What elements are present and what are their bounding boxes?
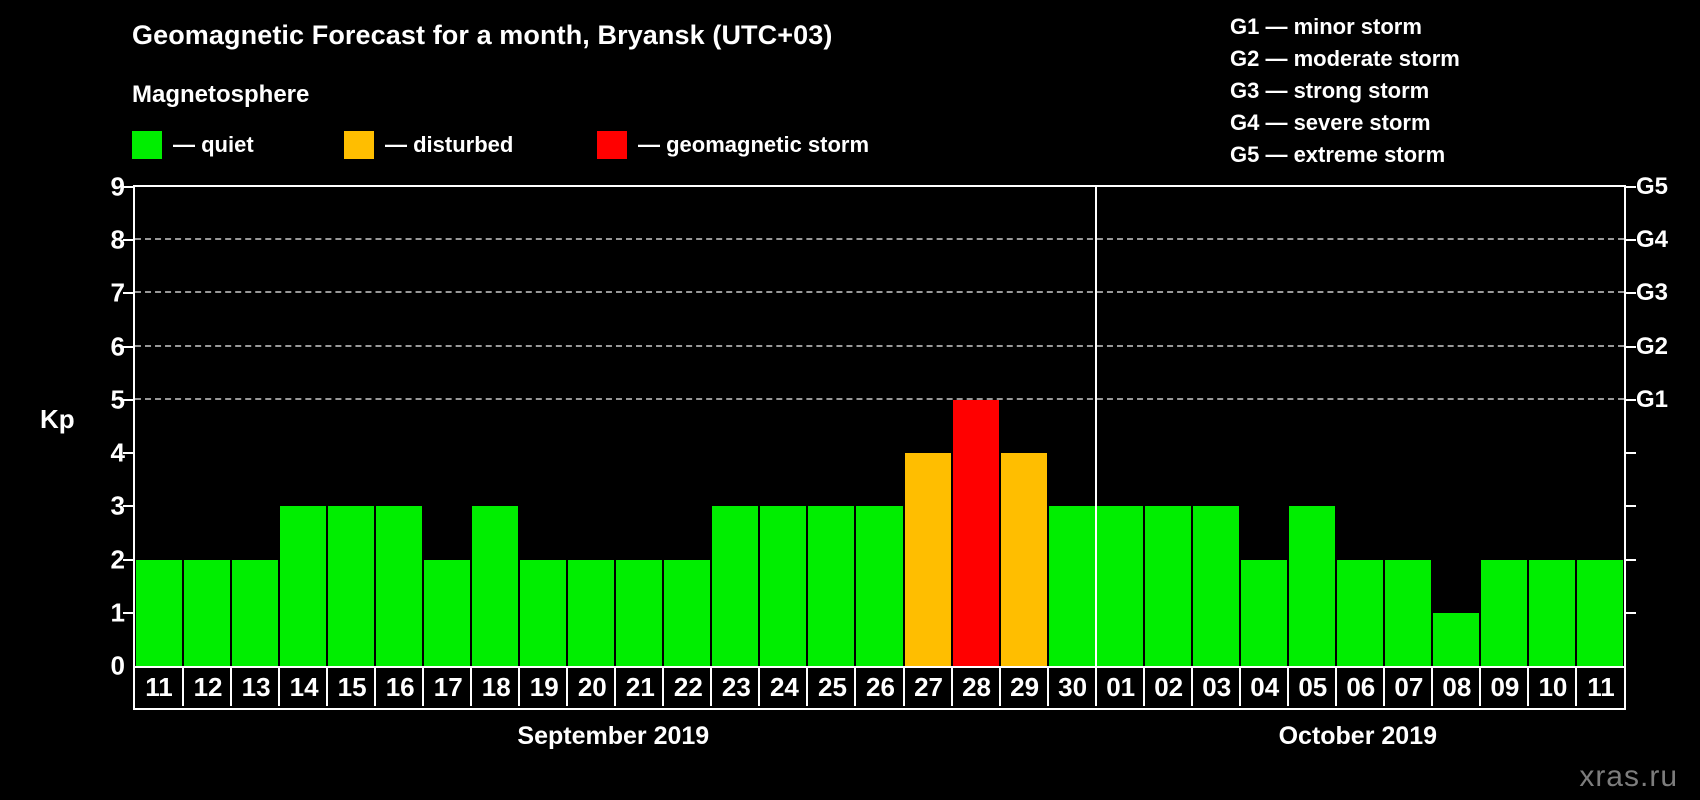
bar-day-04-kp-2[interactable]: [1241, 560, 1287, 666]
g-scale-row-1: G1 — minor storm: [1230, 11, 1460, 43]
bar-day-08-kp-1[interactable]: [1433, 613, 1479, 666]
bar-slot-day-14: [279, 187, 327, 666]
x-axis-day-label-23[interactable]: 23: [710, 668, 760, 706]
x-axis-day-labels: 1112131415161718192021222324252627282930…: [133, 668, 1626, 710]
bar-day-18-kp-3[interactable]: [472, 506, 518, 666]
magnetosphere-label: Magnetosphere: [132, 81, 309, 109]
legend-item-label: — quiet: [173, 132, 254, 158]
g-tick-mark-kp-6: [1625, 346, 1636, 348]
bar-slot-day-11: [135, 187, 183, 666]
x-axis-day-label-30[interactable]: 30: [1047, 668, 1097, 706]
bar-slot-day-13: [231, 187, 279, 666]
bar-day-10-kp-2[interactable]: [1529, 560, 1575, 666]
x-axis-day-label-07[interactable]: 07: [1383, 668, 1433, 706]
bar-slot-day-15: [327, 187, 375, 666]
legend-item-label: — disturbed: [385, 132, 513, 158]
g-axis-tick-marks: [1624, 185, 1636, 668]
bar-day-29-kp-4[interactable]: [1001, 453, 1047, 666]
bar-day-03-kp-3[interactable]: [1193, 506, 1239, 666]
x-axis-day-label-03[interactable]: 03: [1191, 668, 1241, 706]
legend-item-0: — quiet: [132, 130, 254, 160]
x-axis-day-label-09[interactable]: 09: [1479, 668, 1529, 706]
y-axis-tick-labels: 9876543210: [55, 185, 125, 668]
bar-slot-day-09: [1480, 187, 1528, 666]
g-scale-row-2: G2 — moderate storm: [1230, 43, 1460, 75]
g-tick-mark-kp-3: [1625, 505, 1636, 507]
chart-header: Geomagnetic Forecast for a month, Bryans…: [0, 0, 1700, 170]
bar-slot-day-16: [375, 187, 423, 666]
bar-slot-day-10: [1528, 187, 1576, 666]
x-axis-day-label-04[interactable]: 04: [1239, 668, 1289, 706]
bar-slot-day-30: [1048, 187, 1096, 666]
bar-slot-day-21: [615, 187, 663, 666]
bar-day-17-kp-2[interactable]: [424, 560, 470, 666]
x-axis-day-label-18[interactable]: 18: [470, 668, 520, 706]
bar-day-11-kp-2[interactable]: [1577, 560, 1623, 666]
bar-slot-day-01: [1096, 187, 1144, 666]
bar-day-28-kp-5[interactable]: [953, 400, 999, 666]
x-axis-day-label-27[interactable]: 27: [903, 668, 953, 706]
bar-slot-day-17: [423, 187, 471, 666]
month-caption-1: September 2019: [133, 722, 1094, 751]
bar-day-19-kp-2[interactable]: [520, 560, 566, 666]
y-tick-label-9: 9: [65, 172, 125, 203]
bar-slot-day-11: [1576, 187, 1624, 666]
bar-slot-day-22: [663, 187, 711, 666]
y-tick-label-2: 2: [65, 544, 125, 575]
red-square-icon: [597, 131, 627, 159]
g-tick-mark-kp-5: [1625, 399, 1636, 401]
green-square-icon: [132, 131, 162, 159]
x-axis-day-label-24[interactable]: 24: [758, 668, 808, 706]
y-tick-label-8: 8: [65, 225, 125, 256]
bar-slot-day-04: [1240, 187, 1288, 666]
g-scale-row-5: G5 — extreme storm: [1230, 139, 1460, 171]
bar-day-24-kp-3[interactable]: [760, 506, 806, 666]
bar-day-06-kp-2[interactable]: [1337, 560, 1383, 666]
bar-day-26-kp-3[interactable]: [856, 506, 902, 666]
g-tick-label-G1: G1: [1636, 386, 1696, 414]
x-axis-day-label-25[interactable]: 25: [806, 668, 856, 706]
bar-day-01-kp-3[interactable]: [1097, 506, 1143, 666]
g-scale-row-3: G3 — strong storm: [1230, 75, 1460, 107]
x-axis-day-label-12[interactable]: 12: [182, 668, 232, 706]
x-axis-day-label-21[interactable]: 21: [614, 668, 664, 706]
x-axis-day-label-10[interactable]: 10: [1527, 668, 1577, 706]
y-tick-label-5: 5: [65, 384, 125, 415]
x-axis-day-label-28[interactable]: 28: [951, 668, 1001, 706]
x-axis-day-label-16[interactable]: 16: [374, 668, 424, 706]
month-caption-2: October 2019: [1094, 722, 1622, 751]
g-tick-label-G5: G5: [1636, 173, 1696, 201]
legend-item-label: — geomagnetic storm: [638, 132, 869, 158]
bar-slot-day-12: [183, 187, 231, 666]
x-axis-day-label-05[interactable]: 05: [1287, 668, 1337, 706]
g-tick-mark-kp-2: [1625, 559, 1636, 561]
bar-day-23-kp-3[interactable]: [712, 506, 758, 666]
bar-slot-day-28: [952, 187, 1000, 666]
x-axis-day-label-19[interactable]: 19: [518, 668, 568, 706]
bar-day-15-kp-3[interactable]: [328, 506, 374, 666]
x-axis-day-label-14[interactable]: 14: [278, 668, 328, 706]
bar-slot-day-25: [807, 187, 855, 666]
watermark: xras.ru: [1579, 760, 1678, 794]
x-axis-day-label-26[interactable]: 26: [854, 668, 904, 706]
x-axis-day-label-29[interactable]: 29: [999, 668, 1049, 706]
y-tick-label-1: 1: [65, 597, 125, 628]
g-tick-label-G2: G2: [1636, 333, 1696, 361]
g-tick-mark-kp-8: [1625, 239, 1636, 241]
bar-day-21-kp-2[interactable]: [616, 560, 662, 666]
x-axis-day-label-06[interactable]: 06: [1335, 668, 1385, 706]
legend-item-1: — disturbed: [344, 130, 513, 160]
g-scale-row-4: G4 — severe storm: [1230, 107, 1460, 139]
bar-slot-day-24: [759, 187, 807, 666]
bar-day-11-kp-2[interactable]: [136, 560, 182, 666]
y-tick-label-4: 4: [65, 438, 125, 469]
bar-day-25-kp-3[interactable]: [808, 506, 854, 666]
x-axis-day-label-22[interactable]: 22: [662, 668, 712, 706]
bar-slot-day-18: [471, 187, 519, 666]
bar-slot-day-29: [1000, 187, 1048, 666]
bar-slot-day-03: [1192, 187, 1240, 666]
x-axis-day-label-15[interactable]: 15: [326, 668, 376, 706]
page-title: Geomagnetic Forecast for a month, Bryans…: [132, 20, 832, 51]
x-axis-day-label-17[interactable]: 17: [422, 668, 472, 706]
x-axis-day-label-01[interactable]: 01: [1095, 668, 1145, 706]
bar-series: [135, 187, 1624, 666]
y-tick-label-6: 6: [65, 331, 125, 362]
g-tick-label-G3: G3: [1636, 279, 1696, 307]
bar-day-02-kp-3[interactable]: [1145, 506, 1191, 666]
y-tick-label-0: 0: [65, 651, 125, 682]
bar-slot-day-02: [1144, 187, 1192, 666]
bar-slot-day-08: [1432, 187, 1480, 666]
bar-day-22-kp-2[interactable]: [664, 560, 710, 666]
g-axis-tick-labels: G5G4G3G2G1: [1636, 185, 1700, 668]
bar-day-30-kp-3[interactable]: [1049, 506, 1095, 666]
g-tick-label-G4: G4: [1636, 226, 1696, 254]
bar-slot-day-26: [855, 187, 903, 666]
legend-item-2: — geomagnetic storm: [597, 130, 869, 160]
bar-slot-day-07: [1384, 187, 1432, 666]
g-tick-mark-kp-9: [1625, 186, 1636, 188]
bar-day-13-kp-2[interactable]: [232, 560, 278, 666]
g-tick-mark-kp-1: [1625, 612, 1636, 614]
bar-slot-day-19: [519, 187, 567, 666]
y-tick-label-7: 7: [65, 278, 125, 309]
bar-slot-day-06: [1336, 187, 1384, 666]
x-axis-day-label-02[interactable]: 02: [1143, 668, 1193, 706]
bar-day-20-kp-2[interactable]: [568, 560, 614, 666]
bar-day-12-kp-2[interactable]: [184, 560, 230, 666]
month-separator: [1095, 187, 1097, 666]
x-axis-day-label-11[interactable]: 11: [1575, 668, 1625, 706]
x-axis-day-label-20[interactable]: 20: [566, 668, 616, 706]
bar-slot-day-23: [711, 187, 759, 666]
x-axis-day-label-08[interactable]: 08: [1431, 668, 1481, 706]
x-axis-day-label-13[interactable]: 13: [230, 668, 280, 706]
g-tick-mark-kp-7: [1625, 292, 1636, 294]
bar-day-27-kp-4[interactable]: [905, 453, 951, 666]
bar-day-14-kp-3[interactable]: [280, 506, 326, 666]
g-tick-mark-kp-4: [1625, 452, 1636, 454]
x-axis-day-label-11[interactable]: 11: [134, 668, 184, 706]
orange-square-icon: [344, 131, 374, 159]
bar-day-05-kp-3[interactable]: [1289, 506, 1335, 666]
g-scale-legend: G1 — minor stormG2 — moderate stormG3 — …: [1230, 11, 1460, 171]
y-tick-label-3: 3: [65, 491, 125, 522]
bar-slot-day-20: [567, 187, 615, 666]
bar-slot-day-27: [904, 187, 952, 666]
bar-slot-day-05: [1288, 187, 1336, 666]
bar-day-16-kp-3[interactable]: [376, 506, 422, 666]
bar-day-07-kp-2[interactable]: [1385, 560, 1431, 666]
bar-day-09-kp-2[interactable]: [1481, 560, 1527, 666]
